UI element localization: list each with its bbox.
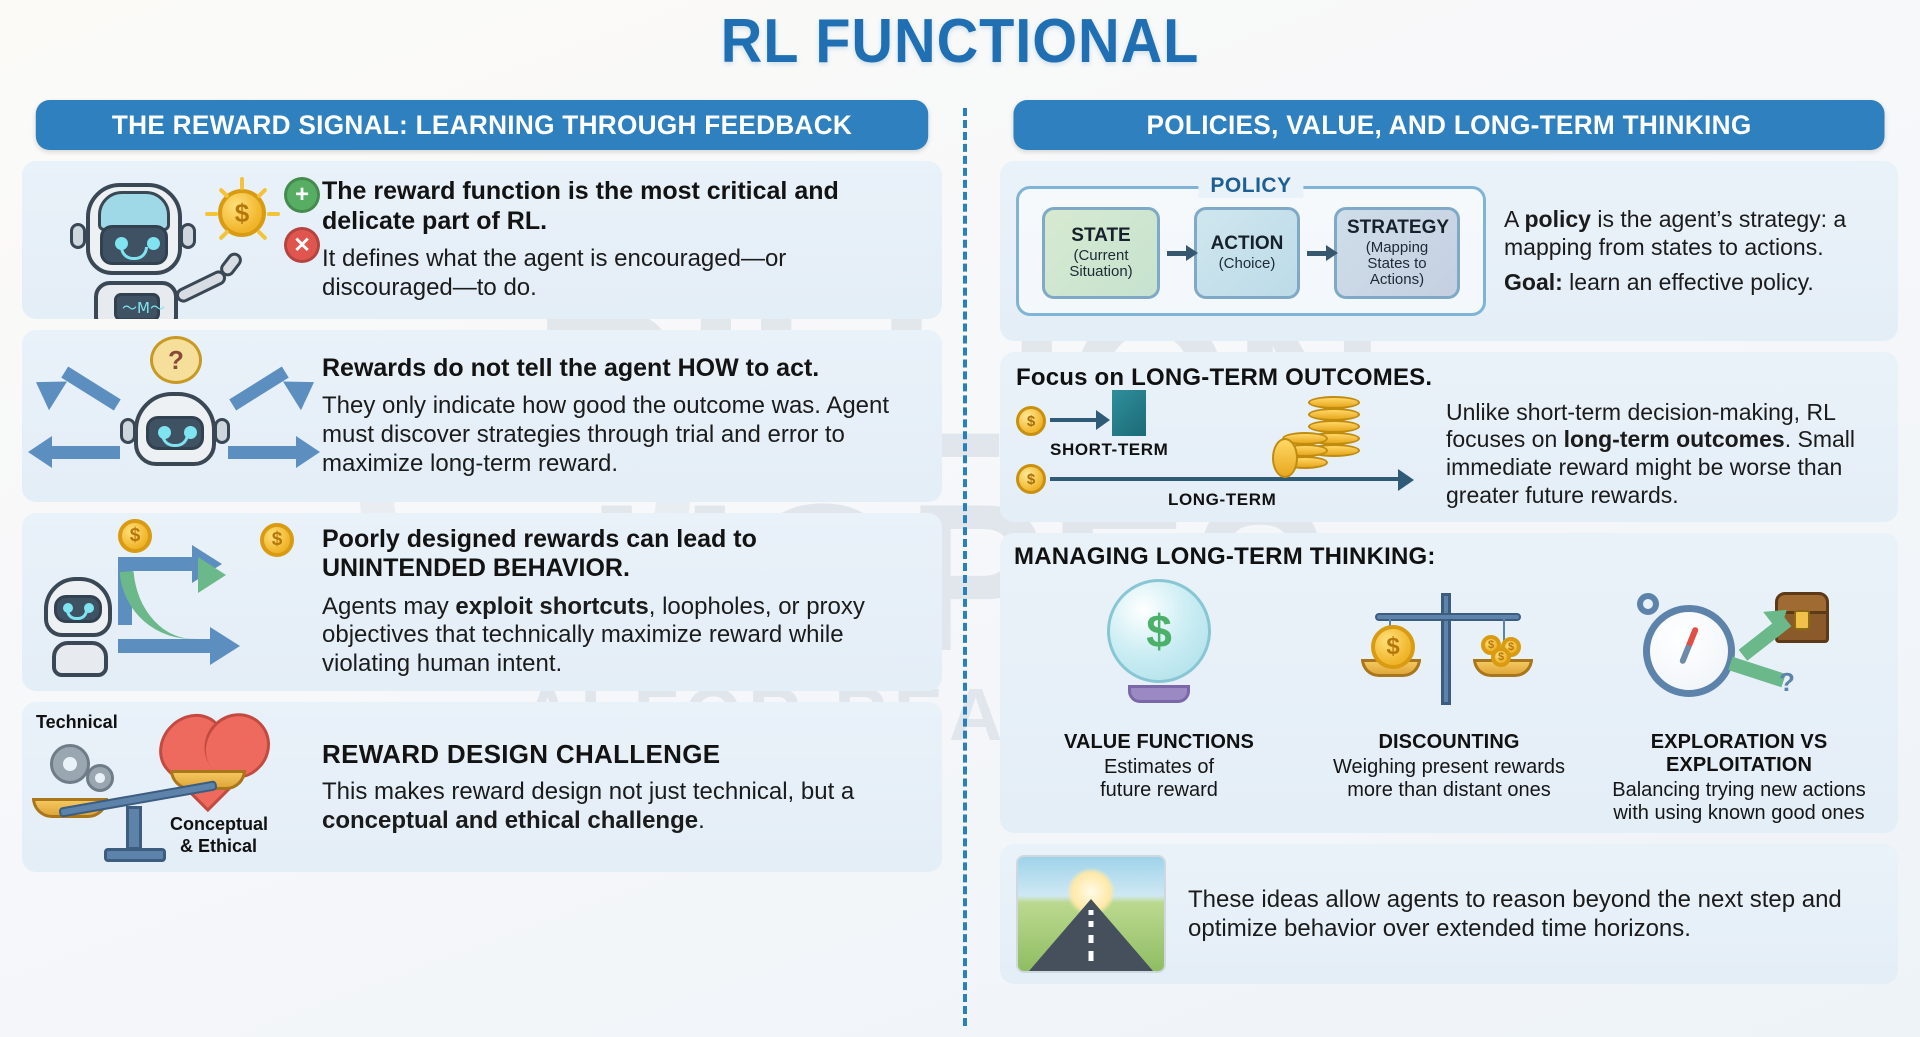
short-term-target-icon xyxy=(1112,390,1146,436)
policy-description: A policy is the agent’s strategy: a mapp… xyxy=(1504,205,1882,261)
coin-icon: $ xyxy=(1016,406,1046,436)
road-horizon-icon xyxy=(1016,855,1166,973)
crystal-ball-base xyxy=(1128,685,1190,703)
panel-2-body: They only indicate how good the outcome … xyxy=(322,392,902,478)
heart-brain-icon xyxy=(167,726,253,812)
panel-unintended-behavior: $ $ xyxy=(22,513,942,691)
coin-icon: $ xyxy=(1371,625,1415,669)
gear-icon xyxy=(50,744,90,784)
scale-post xyxy=(1441,593,1451,705)
coin-icon: $ xyxy=(1491,647,1511,667)
panel-1-body: It defines what the agent is encouraged—… xyxy=(322,245,902,303)
policy-diagram-label: POLICY xyxy=(1198,174,1303,198)
scale-beam xyxy=(1375,613,1521,621)
panel-2-lead: Rewards do not tell the agent HOW to act… xyxy=(322,354,902,383)
arrow-state-to-action-icon xyxy=(1160,251,1194,256)
coin-icon: $ xyxy=(1016,464,1046,494)
page-title: RL FUNCTIONAL xyxy=(67,6,1853,77)
question-mark-icon: ? xyxy=(1779,667,1795,698)
managing-desc-2-exploration: with using known good ones xyxy=(1594,802,1884,825)
left-section-header: THE REWARD SIGNAL: LEARNING THROUGH FEED… xyxy=(36,100,928,150)
managing-item-discounting: DISCOUNTING Weighing present rewards mor… xyxy=(1304,731,1594,825)
coin-icon: $ xyxy=(118,519,152,553)
managing-icon-discounting: $ $ $ $ xyxy=(1304,579,1594,729)
scale-base xyxy=(104,848,166,862)
policy-box-state-sub: (Current Situation) xyxy=(1055,248,1147,280)
policy-box-strategy: STRATEGY (Mapping States to Actions) xyxy=(1334,207,1460,300)
managing-desc-1-value-functions: Estimates of xyxy=(1014,756,1304,779)
scale-label-ethical: & Ethical xyxy=(180,836,257,857)
short-vs-long-term-diagram: $ SHORT-TERM $ LONG-TERM xyxy=(1016,398,1446,510)
coin-stack-icon xyxy=(1272,394,1392,490)
policy-box-action: ACTION (Choice) xyxy=(1194,207,1300,299)
short-term-arrow-line xyxy=(1050,418,1098,422)
policy-box-state-title: STATE xyxy=(1055,226,1147,246)
panel-4-body: This makes reward design not just techni… xyxy=(322,778,902,836)
panel-1-lead: The reward function is the most critical… xyxy=(322,177,902,236)
scale-stand xyxy=(126,806,142,850)
negative-reward-icon: ✕ xyxy=(284,227,320,263)
policy-goal: Goal: learn an effective policy. xyxy=(1504,269,1882,297)
exploitation-arrow xyxy=(1728,657,1786,688)
panel-rewards-not-how: ? xyxy=(22,330,942,502)
managing-desc-1-discounting: Weighing present rewards xyxy=(1304,756,1594,779)
panel-policy: POLICY STATE (Current Situation) ACTION … xyxy=(1000,161,1898,341)
gear-icon xyxy=(86,764,114,792)
right-section-header: POLICIES, VALUE, AND LONG-TERM THINKING xyxy=(1013,100,1884,150)
crystal-ball-dollar-icon: $ xyxy=(1107,579,1211,683)
short-term-label: SHORT-TERM xyxy=(1050,440,1168,460)
managing-item-value-functions: VALUE FUNCTIONS Estimates of future rewa… xyxy=(1014,731,1304,825)
column-divider xyxy=(963,108,967,1026)
managing-title-value-functions: VALUE FUNCTIONS xyxy=(1014,731,1304,754)
managing-icon-value-functions: $ xyxy=(1014,579,1304,729)
panel-reward-function: 〜𝖬〜 $ + ✕ The re xyxy=(22,161,942,319)
policy-box-action-title: ACTION xyxy=(1207,234,1287,254)
scale-label-technical: Technical xyxy=(36,712,118,733)
long-term-heading: Focus on LONG-TERM OUTCOMES. xyxy=(1016,364,1882,392)
long-term-arrow-head xyxy=(1398,469,1414,491)
coin-icon: $ xyxy=(260,523,294,557)
long-term-description: Unlike short-term decision-making, RL fo… xyxy=(1446,399,1882,509)
question-bubble-icon: ? xyxy=(150,336,202,384)
compass-icon xyxy=(1643,605,1735,697)
robot-shortcut-arrows-illustration: $ $ xyxy=(22,513,322,691)
short-term-arrow-head xyxy=(1096,410,1110,430)
policy-box-state: STATE (Current Situation) xyxy=(1042,207,1160,299)
panel-long-term-outcomes: Focus on LONG-TERM OUTCOMES. $ SHORT-TER… xyxy=(1000,352,1898,522)
managing-icon-exploration: ? xyxy=(1594,579,1884,729)
right-column: POLICIES, VALUE, AND LONG-TERM THINKING … xyxy=(1000,100,1898,984)
reward-coin-icon: $ xyxy=(218,189,266,237)
balance-scale-illustration: Technical Conceptual & Ethical xyxy=(22,702,322,872)
managing-desc-2-discounting: more than distant ones xyxy=(1304,779,1594,802)
managing-title-exploration: EXPLORATION VS EXPLOITATION xyxy=(1594,731,1884,777)
panel-3-body: Agents may exploit shortcuts, loopholes,… xyxy=(322,593,902,679)
policy-box-action-sub: (Choice) xyxy=(1207,256,1287,272)
managing-heading: MANAGING LONG-TERM THINKING: xyxy=(1014,543,1884,571)
long-term-label: LONG-TERM xyxy=(1168,490,1276,510)
panel-closing: These ideas allow agents to reason beyon… xyxy=(1000,844,1898,984)
robot-coin-illustration: 〜𝖬〜 $ + ✕ xyxy=(22,161,322,319)
panel-reward-design-challenge: Technical Conceptual & Ethical REWARD DE… xyxy=(22,702,942,872)
closing-text: These ideas allow agents to reason beyon… xyxy=(1188,885,1882,944)
policy-diagram: POLICY STATE (Current Situation) ACTION … xyxy=(1016,186,1486,317)
managing-desc-2-value-functions: future reward xyxy=(1014,779,1304,802)
scale-label-conceptual: Conceptual xyxy=(170,814,268,835)
panel-4-lead: REWARD DESIGN CHALLENGE xyxy=(322,739,902,769)
positive-reward-icon: + xyxy=(284,177,320,213)
managing-title-discounting: DISCOUNTING xyxy=(1304,731,1594,754)
managing-item-exploration: EXPLORATION VS EXPLOITATION Balancing tr… xyxy=(1594,731,1884,825)
managing-desc-1-exploration: Balancing trying new actions xyxy=(1594,779,1884,802)
panel-3-lead: Poorly designed rewards can lead to UNIN… xyxy=(322,525,902,584)
compass-ring xyxy=(1637,593,1659,615)
policy-box-strategy-sub: (Mapping States to Actions) xyxy=(1347,240,1447,289)
left-column: THE REWARD SIGNAL: LEARNING THROUGH FEED… xyxy=(22,100,942,872)
policy-box-strategy-title: STRATEGY xyxy=(1347,218,1447,238)
panel-managing-long-term: MANAGING LONG-TERM THINKING: $ $ $ $ $ xyxy=(1000,533,1898,833)
arrow-action-to-strategy-icon xyxy=(1300,251,1334,256)
robot-branching-arrows-illustration: ? xyxy=(22,330,322,502)
